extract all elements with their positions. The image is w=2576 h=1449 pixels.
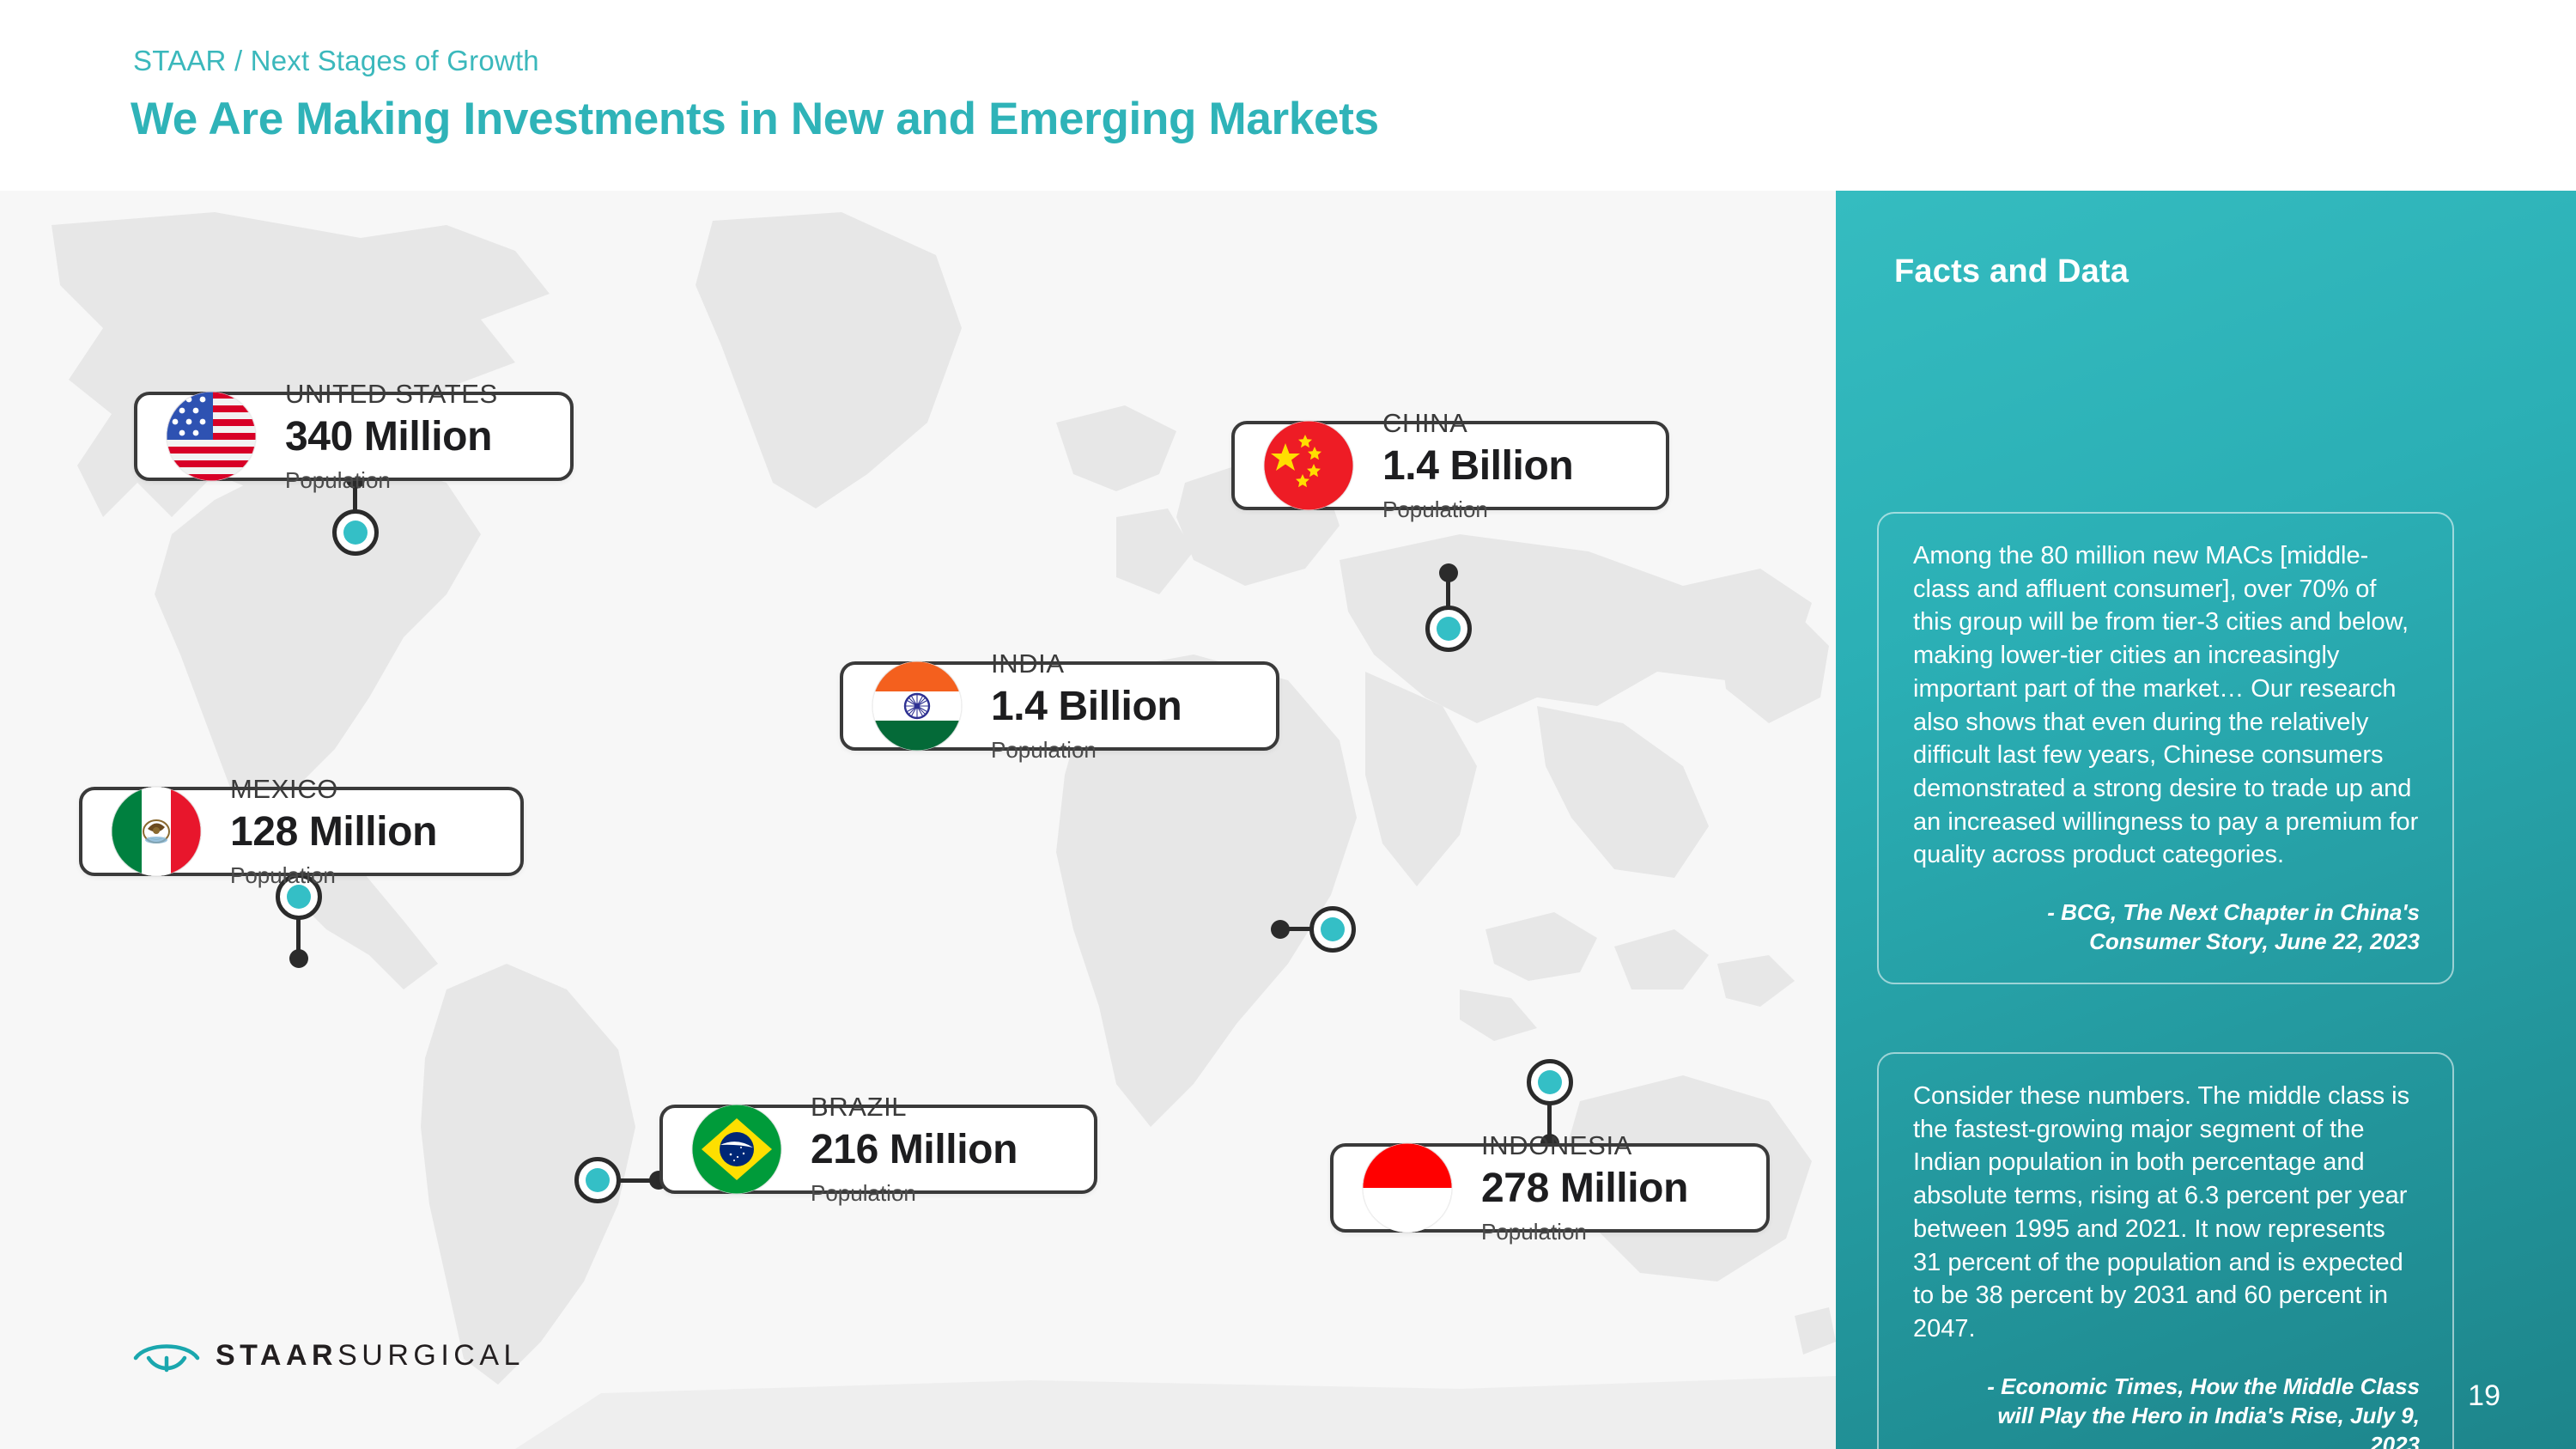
country-metric-label: Population bbox=[1481, 1219, 1688, 1245]
panel-title: Facts and Data bbox=[1894, 253, 2129, 290]
quote-card-bcg: Among the 80 million new MACs [middle-cl… bbox=[1877, 512, 2454, 984]
country-metric-label: Population bbox=[811, 1180, 1018, 1207]
country-population: 1.4 Billion bbox=[1382, 441, 1573, 492]
indonesia-flag-icon bbox=[1363, 1143, 1452, 1233]
eye-logo-icon bbox=[133, 1337, 200, 1373]
logo-wordmark: STAARSURGICAL bbox=[216, 1339, 525, 1373]
us-flag-icon bbox=[167, 392, 256, 481]
map-marker-indonesia[interactable] bbox=[1527, 1059, 1573, 1105]
quote-source: - BCG, The Next Chapter in China's Consu… bbox=[1913, 898, 2420, 957]
country-name: CHINA bbox=[1382, 408, 1573, 439]
country-metric-label: Population bbox=[285, 467, 498, 494]
page-number: 19 bbox=[2468, 1379, 2500, 1413]
country-card-text: INDONESIA 278 Million Population bbox=[1481, 1130, 1688, 1245]
country-card-text: INDIA 1.4 Billion Population bbox=[991, 648, 1182, 763]
mexico-flag-icon bbox=[112, 787, 201, 876]
connector-stub-mexico bbox=[289, 949, 308, 968]
country-card-text: UNITED STATES 340 Million Population bbox=[285, 379, 498, 493]
country-name: INDONESIA bbox=[1481, 1130, 1688, 1161]
country-name: INDIA bbox=[991, 648, 1182, 679]
logo-secondary-text: SURGICAL bbox=[337, 1339, 525, 1372]
country-population: 216 Million bbox=[811, 1125, 1018, 1176]
facts-and-data-panel: Facts and Data Among the 80 million new … bbox=[1836, 191, 2576, 1449]
country-card-indonesia[interactable]: INDONESIA 278 Million Population bbox=[1330, 1143, 1770, 1233]
brazil-flag-icon bbox=[692, 1105, 781, 1194]
country-name: BRAZIL bbox=[811, 1092, 1018, 1123]
country-population: 128 Million bbox=[230, 807, 437, 858]
india-flag-icon bbox=[872, 661, 962, 751]
quote-card-economic-times: Consider these numbers. The middle class… bbox=[1877, 1052, 2454, 1449]
country-name: UNITED STATES bbox=[285, 379, 498, 410]
page-title: We Are Making Investments in New and Eme… bbox=[131, 93, 1379, 145]
country-metric-label: Population bbox=[1382, 496, 1573, 523]
quote-text: Consider these numbers. The middle class… bbox=[1913, 1080, 2420, 1346]
quote-source: - Economic Times, How the Middle Class w… bbox=[1913, 1372, 2420, 1449]
country-card-mexico[interactable]: MEXICO 128 Million Population bbox=[79, 787, 524, 876]
country-card-china[interactable]: CHINA 1.4 Billion Population bbox=[1231, 421, 1669, 510]
country-population: 340 Million bbox=[285, 412, 498, 463]
quote-text: Among the 80 million new MACs [middle-cl… bbox=[1913, 539, 2420, 872]
breadcrumb: STAAR / Next Stages of Growth bbox=[133, 45, 539, 77]
staar-surgical-logo: STAARSURGICAL bbox=[133, 1330, 525, 1381]
slide-header: STAAR / Next Stages of Growth We Are Mak… bbox=[0, 0, 2576, 191]
country-metric-label: Population bbox=[230, 862, 437, 889]
country-card-united-states[interactable]: UNITED STATES 340 Million Population bbox=[134, 392, 574, 481]
country-card-brazil[interactable]: BRAZIL 216 Million Population bbox=[659, 1105, 1097, 1194]
country-population: 1.4 Billion bbox=[991, 682, 1182, 733]
world-map-stage: UNITED STATES 340 Million Population bbox=[0, 191, 1836, 1449]
map-marker-united-states[interactable] bbox=[332, 509, 379, 556]
china-flag-icon bbox=[1264, 421, 1353, 510]
country-metric-label: Population bbox=[991, 737, 1182, 764]
map-marker-china[interactable] bbox=[1425, 606, 1472, 652]
logo-primary-text: STAAR bbox=[216, 1339, 337, 1372]
country-population: 278 Million bbox=[1481, 1164, 1688, 1215]
country-card-text: MEXICO 128 Million Population bbox=[230, 774, 437, 888]
country-name: MEXICO bbox=[230, 774, 437, 805]
map-marker-india[interactable] bbox=[1309, 906, 1356, 953]
country-card-text: CHINA 1.4 Billion Population bbox=[1382, 408, 1573, 522]
map-marker-brazil[interactable] bbox=[574, 1157, 621, 1203]
country-card-india[interactable]: INDIA 1.4 Billion Population bbox=[840, 661, 1279, 751]
country-card-text: BRAZIL 216 Million Population bbox=[811, 1092, 1018, 1206]
